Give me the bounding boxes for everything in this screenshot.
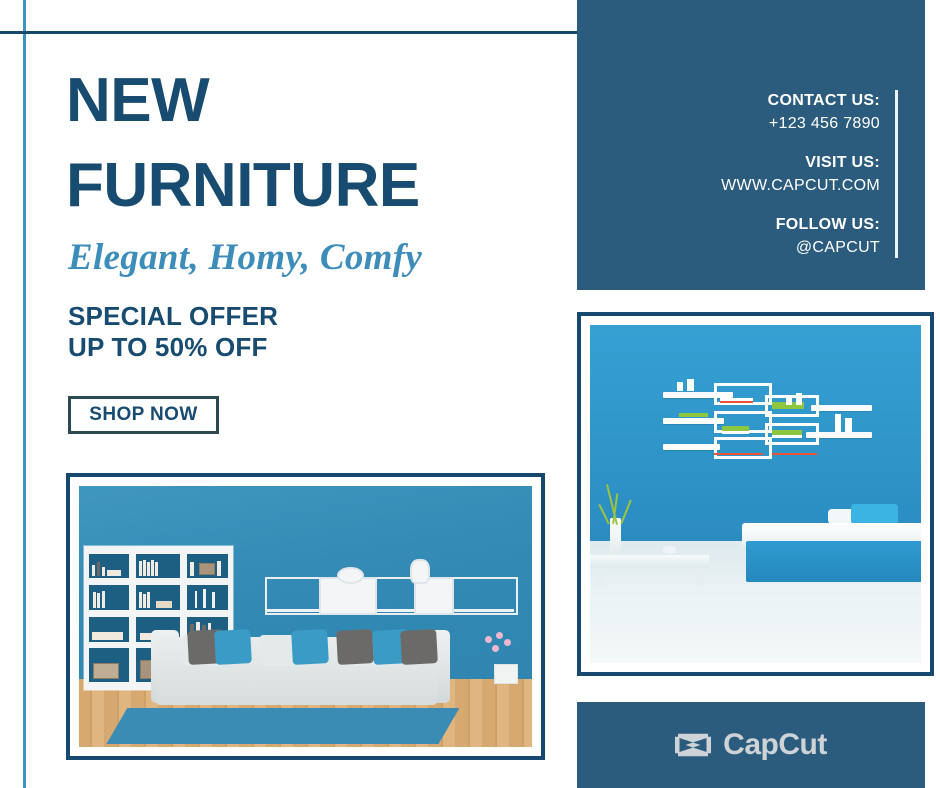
contact-divider-rule [895, 90, 898, 258]
floating-shelves [663, 376, 868, 464]
contact-group-social: FOLLOW US: @CAPCUT [721, 214, 880, 259]
poster-canvas: NEW FURNITURE Elegant, Homy, Comfy SPECI… [0, 0, 940, 788]
bedroom-photo [590, 325, 921, 663]
blue-rug [106, 708, 459, 745]
subtitle: Elegant, Homy, Comfy [68, 236, 422, 280]
bed-base [746, 541, 921, 582]
contact-label-website: VISIT US: [721, 152, 880, 174]
branches [600, 474, 646, 525]
headline-line-2: FURNITURE [66, 143, 536, 228]
contact-value-social[interactable]: @CAPCUT [721, 236, 880, 259]
low-table [590, 555, 709, 569]
offer-line-2: UP TO 50% OFF [68, 332, 278, 363]
bedroom-photo-frame [577, 312, 934, 676]
page-title: NEW FURNITURE [66, 58, 536, 228]
offer-line-1: SPECIAL OFFER [68, 301, 278, 332]
pillow-blue-2 [291, 629, 329, 665]
vertical-accent-rule [23, 0, 26, 788]
pillow-blue-1 [214, 629, 252, 665]
contact-value-phone[interactable]: +123 456 7890 [721, 112, 880, 135]
contact-value-website[interactable]: WWW.CAPCUT.COM [721, 174, 880, 197]
contact-label-social: FOLLOW US: [721, 214, 880, 236]
orchid-flowers [482, 632, 514, 669]
headline-line-1: NEW [66, 58, 536, 143]
contact-list: CONTACT US: +123 456 7890 VISIT US: WWW.… [721, 90, 880, 259]
special-offer-text: SPECIAL OFFER UP TO 50% OFF [68, 301, 278, 363]
contact-group-website: VISIT US: WWW.CAPCUT.COM [721, 152, 880, 197]
living-room-photo [79, 486, 532, 747]
contact-panel: CONTACT US: +123 456 7890 VISIT US: WWW.… [577, 0, 925, 290]
bed-pillow-blue [851, 504, 897, 524]
pillow-gray-2 [336, 629, 374, 665]
capcut-logo-icon [675, 732, 711, 758]
contact-label-phone: CONTACT US: [721, 90, 880, 112]
table-object [663, 546, 676, 553]
wall-shelf-vase [410, 559, 430, 584]
wall-shelf-bowl [337, 567, 364, 584]
living-room-photo-frame [66, 473, 545, 760]
pillow-gray-3 [400, 629, 438, 665]
capcut-brand-panel: CapCut [577, 702, 925, 788]
wall-shelf-bar [265, 609, 514, 612]
shop-now-button[interactable]: SHOP NOW [68, 396, 219, 434]
contact-group-phone: CONTACT US: +123 456 7890 [721, 90, 880, 135]
capcut-brand-name: CapCut [723, 728, 827, 762]
